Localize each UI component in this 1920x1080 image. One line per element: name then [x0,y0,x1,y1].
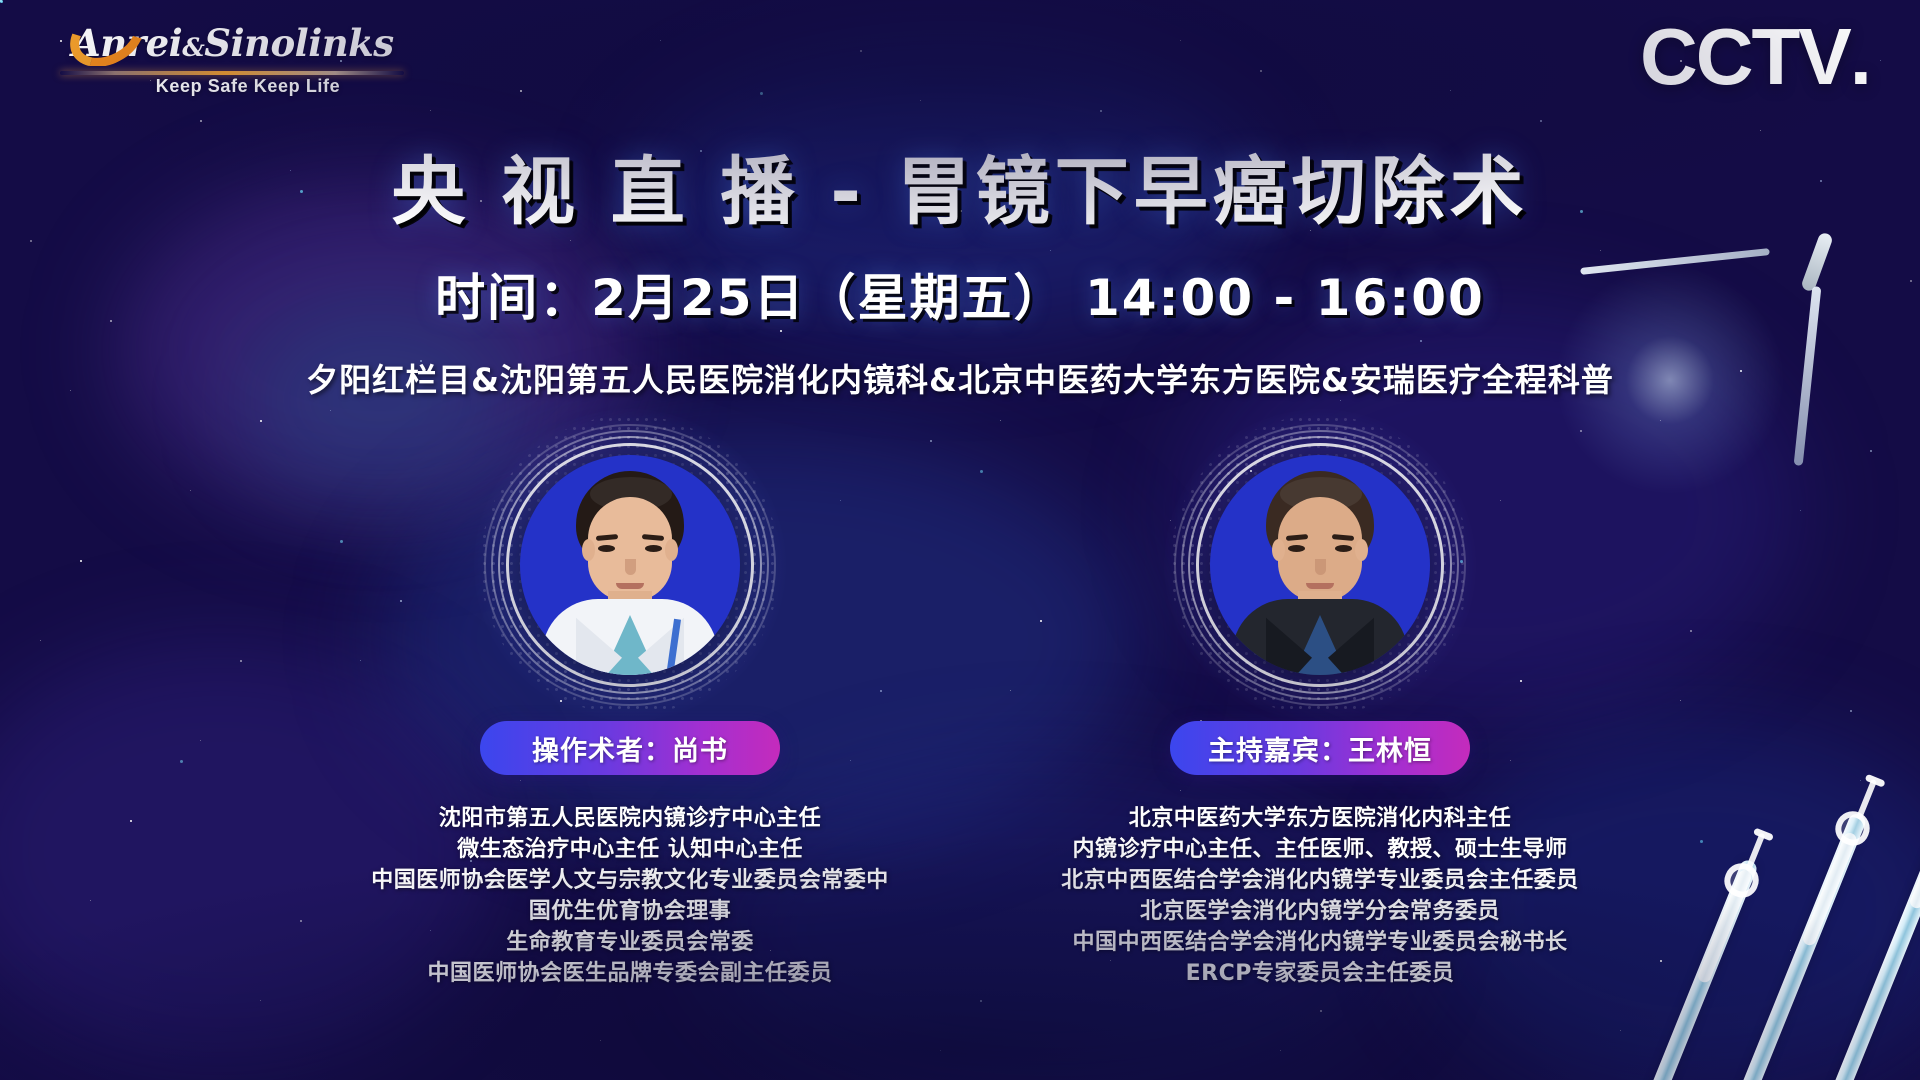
credential-item: 沈阳市第五人民医院内镜诊疗中心主任 [300,803,960,834]
speaker-card-left: 操作术者：尚书 沈阳市第五人民医院内镜诊疗中心主任 微生态治疗中心主任 认知中心… [300,455,960,989]
credential-item: 北京中西医结合学会消化内镜学专业委员会主任委员 [990,865,1650,896]
credentials-list-right: 北京中医药大学东方医院消化内科主任 内镜诊疗中心主任、主任医师、教授、硕士生导师… [990,803,1650,989]
brand-wordmark: Anrei&Sinolinks [72,18,402,73]
credential-item: 北京中医药大学东方医院消化内科主任 [990,803,1650,834]
anrei-sinolinks-logo: Anrei&Sinolinks Keep Safe Keep Life [72,18,402,98]
avatar [1210,455,1430,675]
credential-item: 中国医师协会医生品牌专委会副主任委员 [300,958,960,989]
speaker-role-label: 主持嘉宾：王林恒 [1208,729,1432,768]
speaker-role-badge-left: 操作术者：尚书 [480,721,780,775]
cctv-logo: CCTV. [1640,14,1872,100]
portrait-frame [520,455,740,675]
credential-item: 微生态治疗中心主任 认知中心主任 [300,834,960,865]
credentials-list-left: 沈阳市第五人民医院内镜诊疗中心主任 微生态治疗中心主任 认知中心主任 中国医师协… [300,803,960,989]
credential-item: ERCP专家委员会主任委员 [990,958,1650,989]
cctv-dot: . [1850,12,1872,101]
event-subtitle: 夕阳红栏目&沈阳第五人民医院消化内镜科&北京中医药大学东方医院&安瑞医疗全程科普 [0,355,1920,401]
brand-name-first: Anrei [72,21,182,65]
avatar [520,455,740,675]
needle-device [1721,784,1882,1080]
starfield [0,0,1,1]
starfield [0,0,2,2]
brand-tagline: Keep Safe Keep Life [118,76,378,97]
brand-name-second: Sinolinks [204,21,393,65]
speaker-role-label: 操作术者：尚书 [532,729,728,768]
needle-device [1813,719,1920,1080]
starfield [0,0,3,3]
credential-item: 国优生优育协会理事 [300,896,960,927]
credential-item: 中国中西医结合学会消化内镜学专业委员会秘书长 [990,927,1650,958]
page-title: 央 视 直 播 - 胃镜下早癌切除术 [0,132,1920,239]
needle-device [1631,840,1769,1080]
speaker-card-right: 主持嘉宾：王林恒 北京中医药大学东方医院消化内科主任 内镜诊疗中心主任、主任医师… [990,455,1650,989]
poster-canvas: Anrei&Sinolinks Keep Safe Keep Life CCTV… [0,0,1920,1080]
credential-item: 生命教育专业委员会常委 [300,927,960,958]
portrait-frame [1210,455,1430,675]
event-time: 时间：2月25日（星期五） 14:00 - 16:00 [0,258,1920,330]
brand-ampersand: & [182,33,204,62]
logo-divider-rule [60,71,404,75]
speaker-role-badge-right: 主持嘉宾：王林恒 [1170,721,1470,775]
cctv-wordmark: CCTV [1640,12,1850,101]
credential-item: 内镜诊疗中心主任、主任医师、教授、硕士生导师 [990,834,1650,865]
credential-item: 中国医师协会医学人文与宗教文化专业委员会常委中 [300,865,960,896]
credential-item: 北京医学会消化内镜学分会常务委员 [990,896,1650,927]
